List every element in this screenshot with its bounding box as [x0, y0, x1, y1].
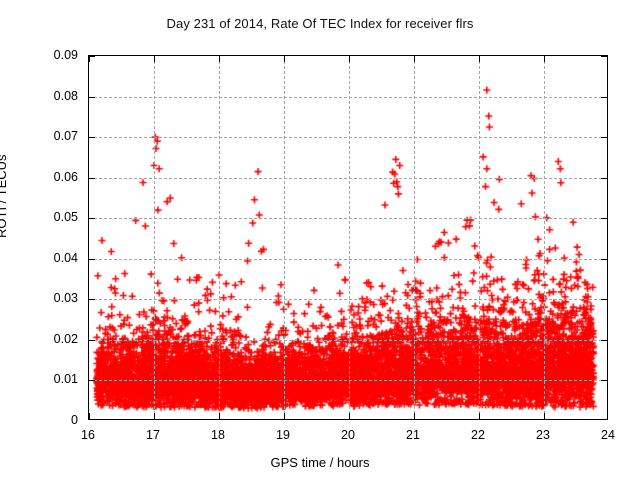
x-tick-label: 23 [523, 428, 563, 442]
chart-root: Day 231 of 2014, Rate Of TEC Index for r… [0, 0, 640, 480]
x-axis-title: GPS time / hours [0, 455, 640, 470]
y-tick-label: 0.01 [0, 372, 78, 386]
x-tick-label: 24 [588, 428, 628, 442]
x-tick-label: 19 [263, 428, 303, 442]
y-tick-label: 0.05 [0, 210, 78, 224]
x-tick-label: 16 [68, 428, 108, 442]
axis-labels-layer: 00.010.020.030.040.050.060.070.080.09 16… [0, 0, 640, 480]
x-tick-label: 20 [328, 428, 368, 442]
y-tick-label: 0.06 [0, 170, 78, 184]
y-tick-label: 0 [0, 413, 78, 427]
y-tick-label: 0.04 [0, 251, 78, 265]
y-tick-label: 0.09 [0, 48, 78, 62]
y-tick-label: 0.02 [0, 332, 78, 346]
y-tick-label: 0.03 [0, 291, 78, 305]
x-tick-label: 18 [198, 428, 238, 442]
x-tick-label: 17 [133, 428, 173, 442]
y-tick-label: 0.08 [0, 89, 78, 103]
y-tick-label: 0.07 [0, 129, 78, 143]
x-tick-label: 21 [393, 428, 433, 442]
x-tick-label: 22 [458, 428, 498, 442]
y-axis-title: ROTI / TECUs [0, 38, 9, 238]
